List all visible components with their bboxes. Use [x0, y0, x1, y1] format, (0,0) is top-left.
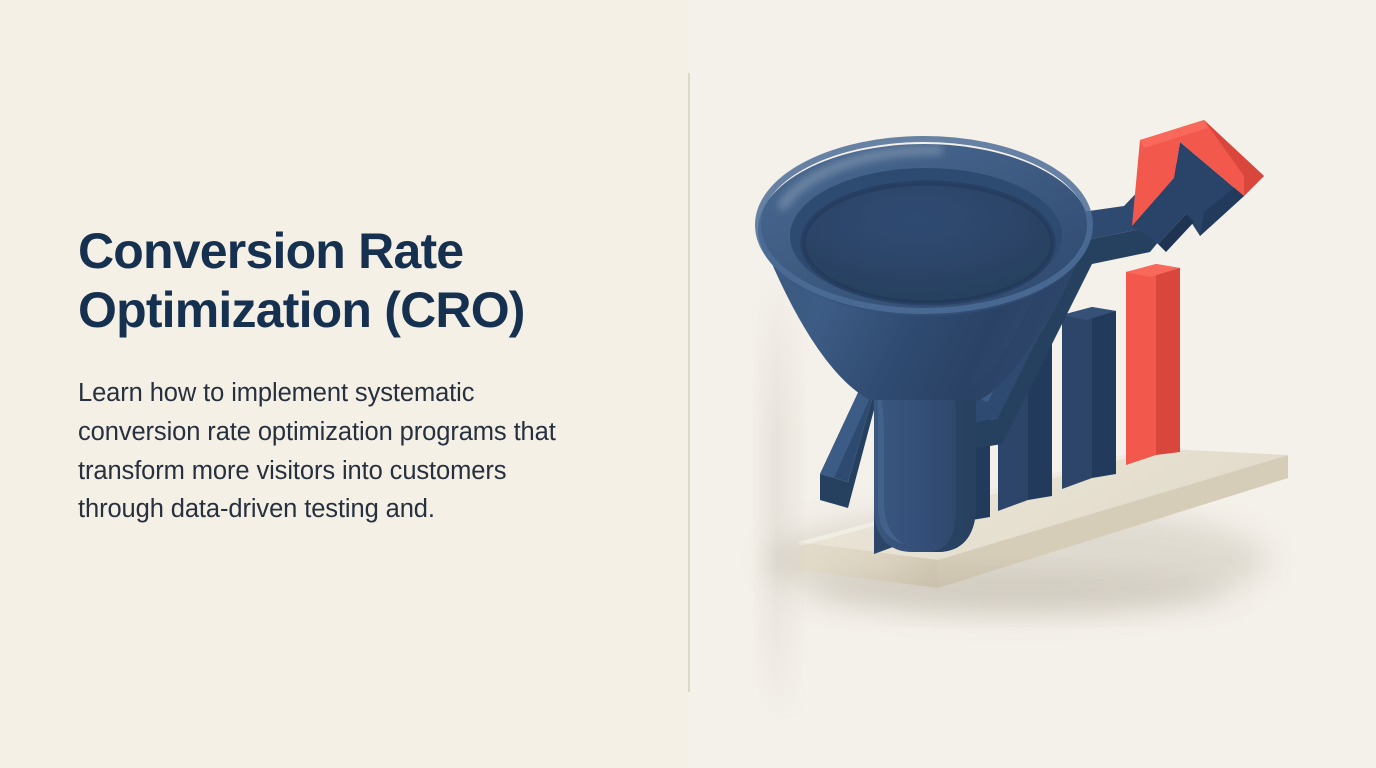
vertical-divider [688, 73, 690, 692]
bar-5-highlight [1126, 264, 1180, 465]
bar-4 [1062, 307, 1116, 489]
illustration-panel [688, 0, 1376, 768]
cro-funnel-growth-chart-3d-icon [688, 0, 1376, 768]
platform-contact-shadow [803, 570, 1233, 614]
page-title: Conversion Rate Optimization (CRO) [78, 222, 638, 340]
text-block: Conversion Rate Optimization (CRO) Learn… [78, 222, 638, 529]
text-column: Conversion Rate Optimization (CRO) Learn… [0, 0, 688, 768]
slide-root: Conversion Rate Optimization (CRO) Learn… [0, 0, 1376, 768]
page-subtitle: Learn how to implement systematic conver… [78, 374, 598, 529]
